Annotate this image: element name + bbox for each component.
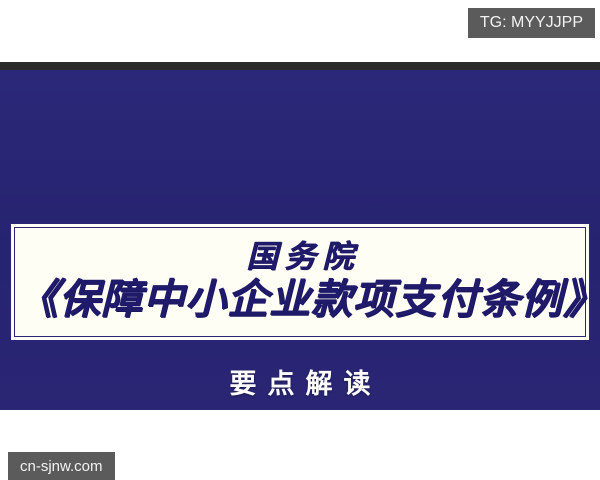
dark-separator-stripe: [0, 62, 600, 70]
title-line-organization: 国务院: [17, 241, 583, 274]
subtitle-text: 要点解读: [0, 362, 600, 401]
title-plate-inner: 国务院 《保障中小企业款项支付条例》: [11, 241, 589, 322]
poster-image: 国务院 《保障中小企业款项支付条例》 要点解读 TG: MYYJJPP cn-s…: [0, 0, 600, 480]
title-plate: 国务院 《保障中小企业款项支付条例》: [9, 222, 591, 342]
title-line-regulation: 《保障中小企业款项支付条例》: [17, 277, 583, 323]
navy-background-panel: 国务院 《保障中小企业款项支付条例》 要点解读: [0, 70, 600, 410]
watermark-badge-telegram: TG: MYYJJPP: [468, 8, 595, 38]
watermark-badge-website: cn-sjnw.com: [8, 452, 115, 480]
